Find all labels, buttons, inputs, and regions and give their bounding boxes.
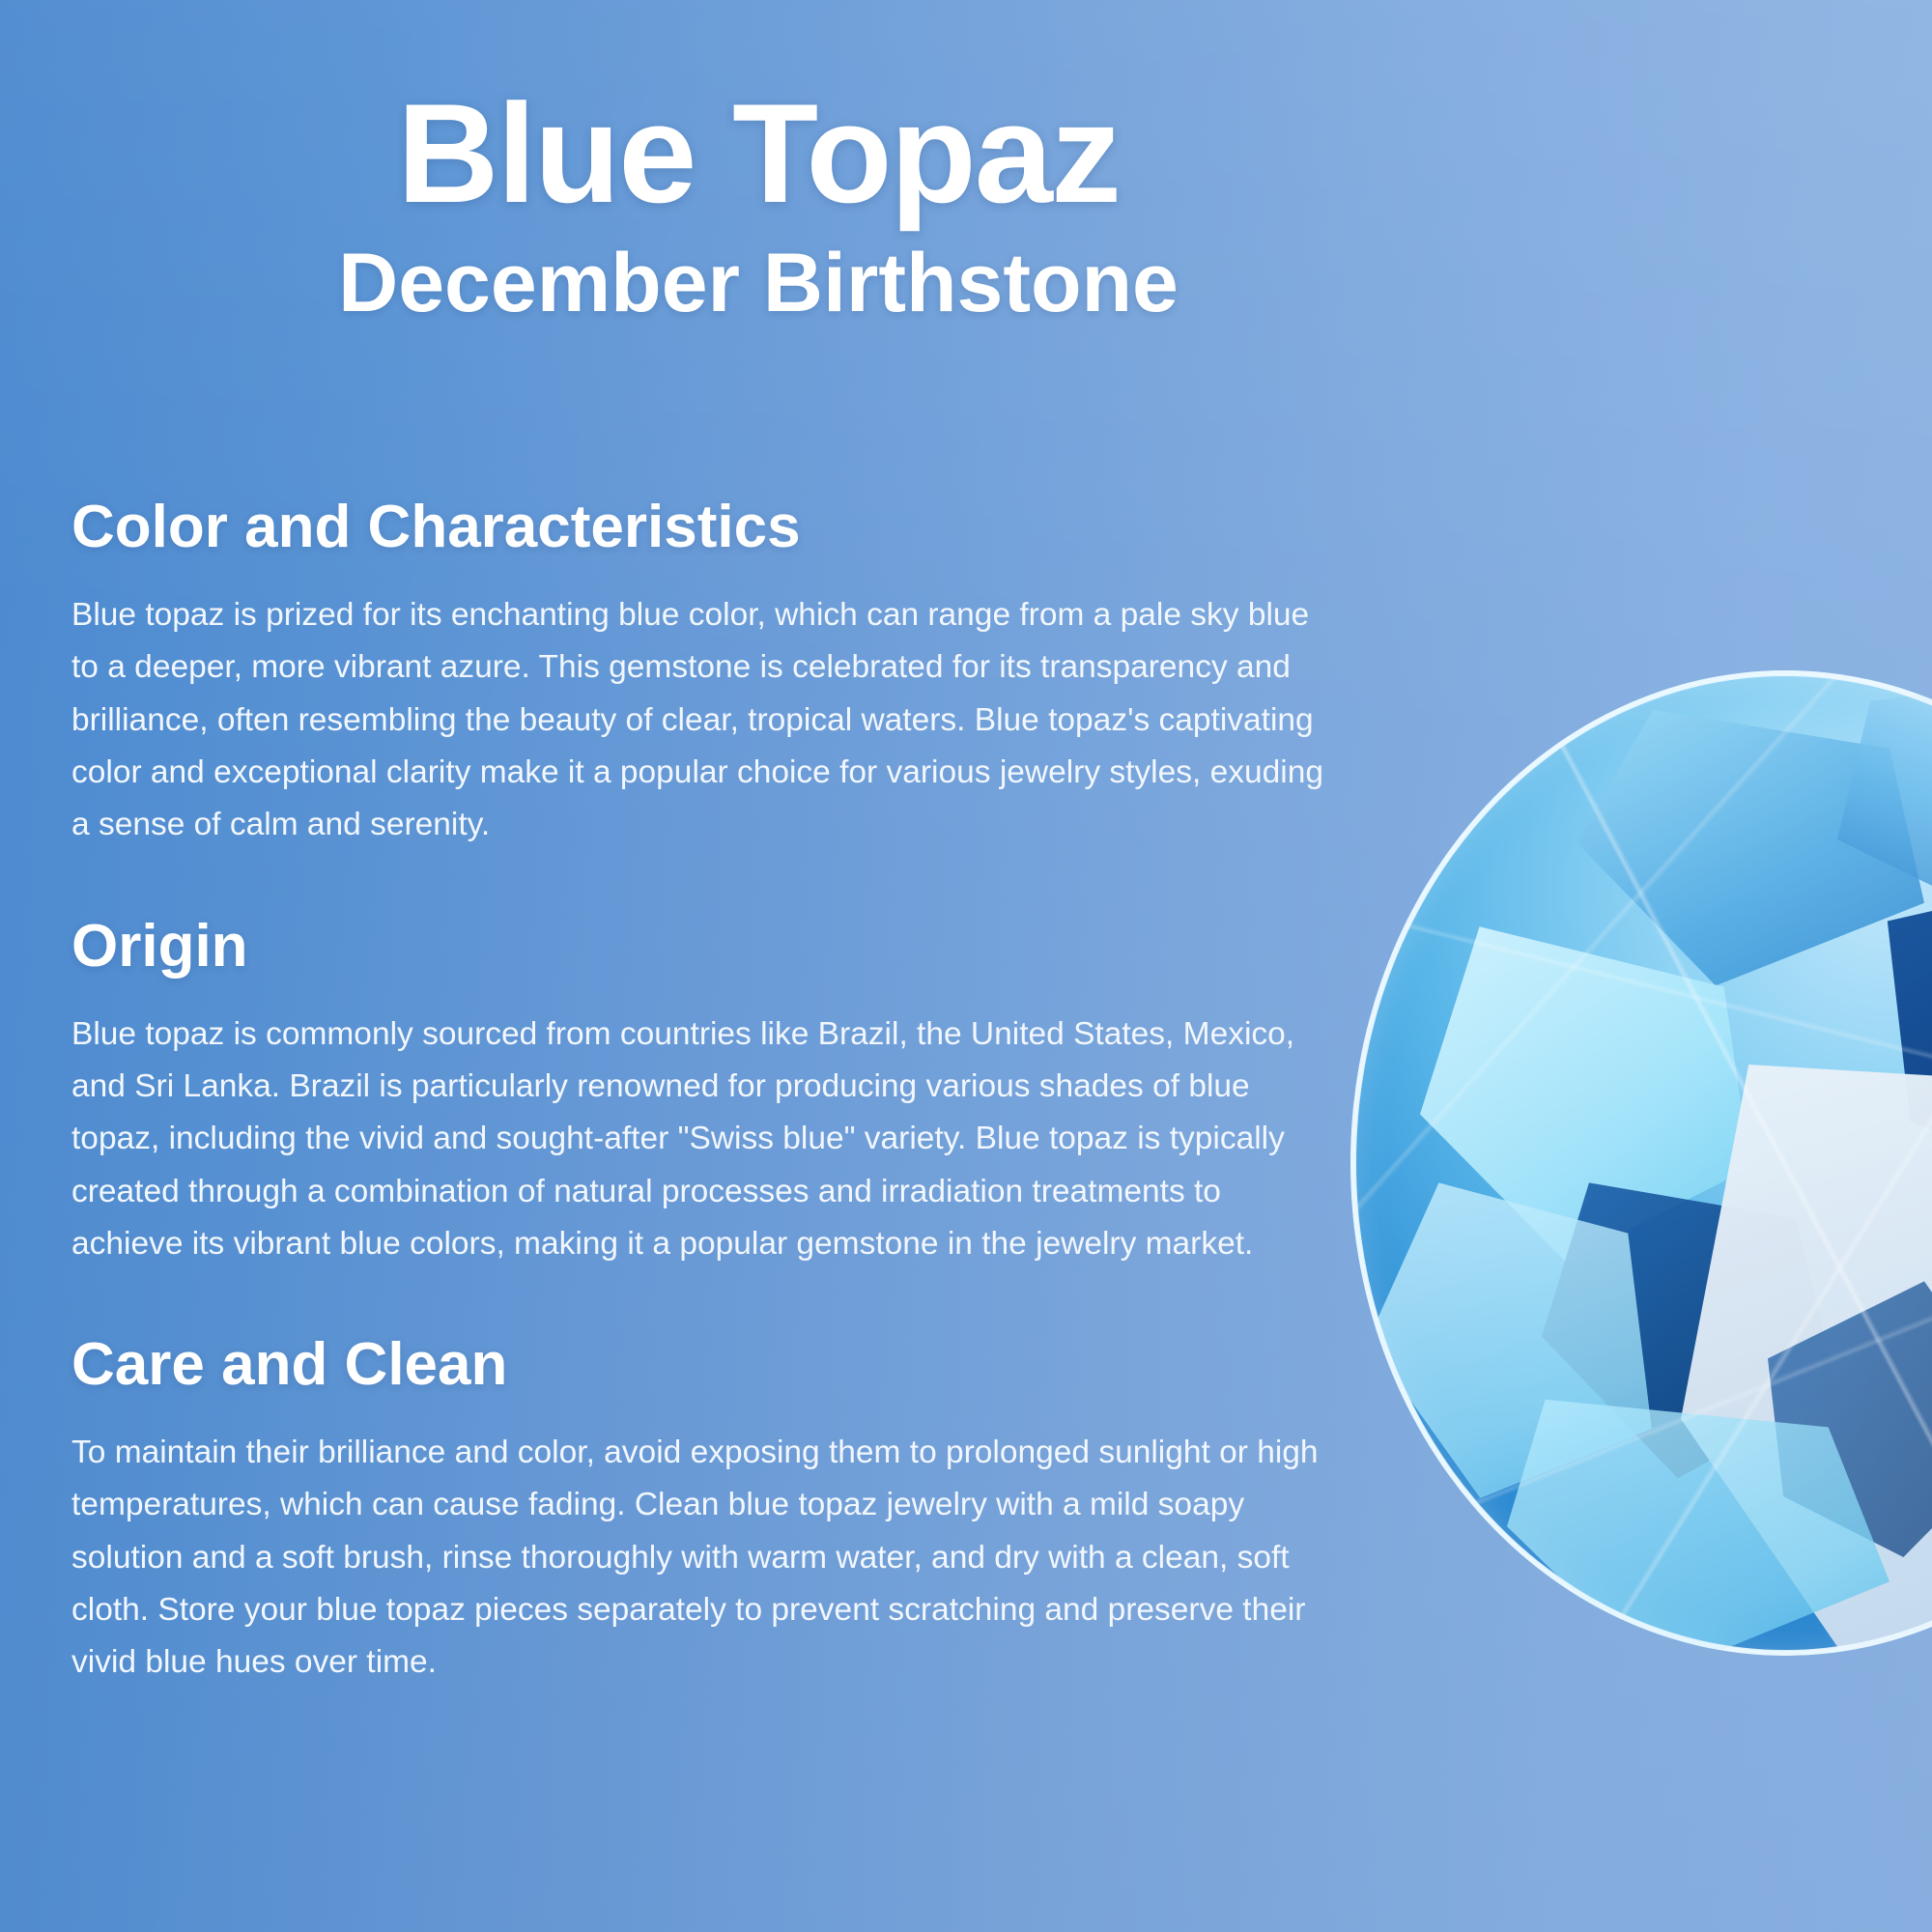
page-title: Blue Topaz	[0, 83, 1517, 224]
gem-girdle-rim	[1350, 670, 1932, 1656]
gem-facet-edges	[1350, 670, 1932, 1656]
section-body: Blue topaz is prized for its enchanting …	[71, 589, 1327, 851]
section-heading: Care and Clean	[71, 1332, 1347, 1398]
section-color-and-characteristics: Color and Characteristics Blue topaz is …	[71, 495, 1347, 852]
gemstone-body	[1350, 670, 1932, 1656]
infographic-poster: Blue Topaz December Birthstone Color and…	[0, 0, 1932, 1932]
section-body: To maintain their brilliance and color, …	[71, 1427, 1327, 1689]
gem-facet-bright-left	[1368, 1182, 1663, 1497]
gem-facet-bright-lower-left	[1507, 1400, 1889, 1656]
gem-facet-bright-upper-left	[1420, 926, 1750, 1262]
gem-facet-table-pale	[1681, 1065, 1932, 1656]
section-body: Blue topaz is commonly sourced from coun…	[71, 1009, 1327, 1270]
gem-facet-dark-right	[1872, 867, 1932, 1203]
poster-header: Blue Topaz December Birthstone	[0, 83, 1517, 327]
section-heading: Color and Characteristics	[71, 495, 1347, 560]
gemstone-photo	[1350, 670, 1932, 1656]
gem-facet-crown-right	[1837, 670, 1932, 926]
gem-facet-dark-lower	[1768, 1281, 1932, 1557]
section-heading: Origin	[71, 914, 1347, 980]
section-care-and-clean: Care and Clean To maintain their brillia…	[71, 1332, 1347, 1690]
page-subtitle: December Birthstone	[0, 240, 1517, 327]
section-origin: Origin Blue topaz is commonly sourced fr…	[71, 914, 1347, 1271]
gem-facet-dark-center	[1542, 1182, 1837, 1478]
gem-facet-crown-left	[1577, 710, 1924, 986]
sections-container: Color and Characteristics Blue topaz is …	[71, 495, 1347, 1690]
